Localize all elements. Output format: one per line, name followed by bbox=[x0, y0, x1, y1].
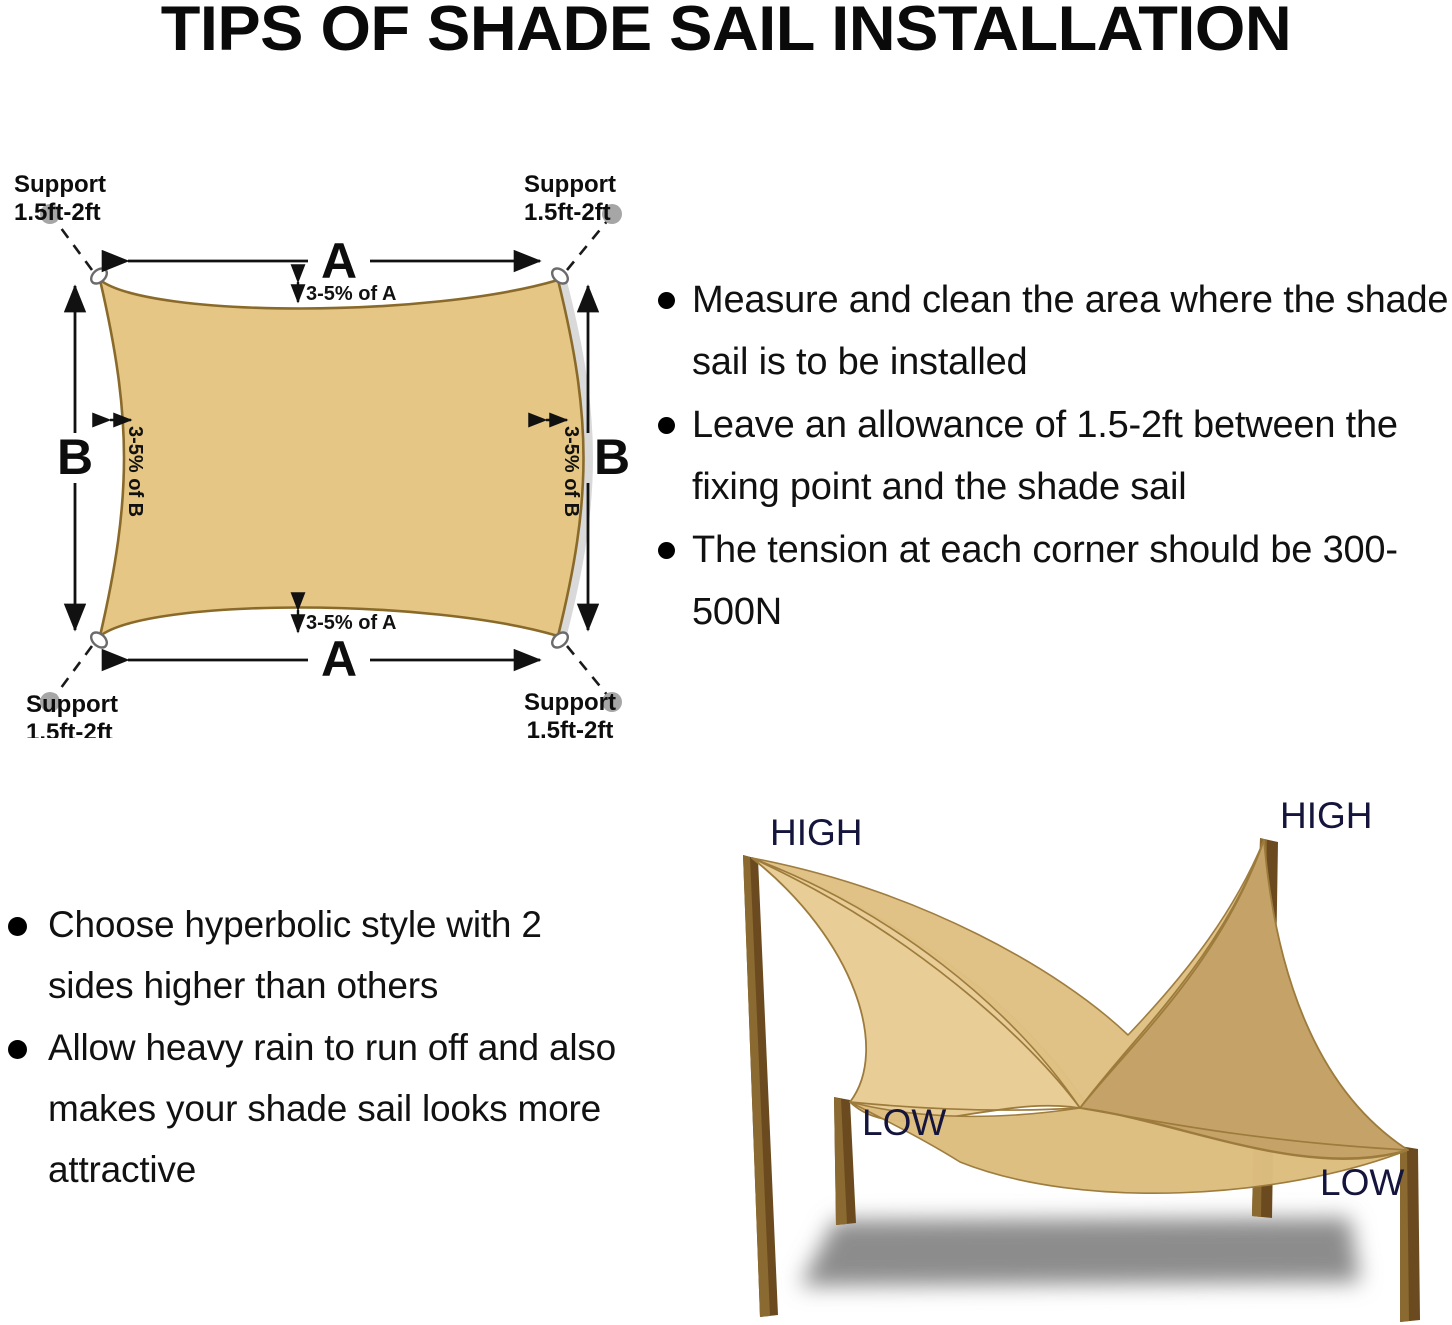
post-low-left bbox=[834, 1097, 856, 1225]
hyperbolic-shade-sail-illustration: HIGH HIGH LOW LOW bbox=[660, 790, 1452, 1325]
support-label-bottom-right-line1: Support bbox=[524, 689, 616, 716]
list-item: Measure and clean the area where the sha… bbox=[650, 270, 1452, 393]
label-low-right: LOW bbox=[1320, 1162, 1404, 1203]
curve-label-right: 3-5% of B bbox=[560, 426, 582, 517]
curve-label-top: 3-5% of A bbox=[306, 283, 396, 305]
list-item: Allow heavy rain to run off and also mak… bbox=[0, 1018, 625, 1200]
curve-label-left: 3-5% of B bbox=[124, 426, 146, 517]
shade-sail-shape bbox=[100, 280, 584, 636]
support-label-top-right-line1: Support bbox=[524, 171, 616, 198]
curve-label-bottom: 3-5% of A bbox=[306, 612, 396, 634]
support-label-top-left-line1: Support bbox=[14, 171, 106, 198]
list-item: The tension at each corner should be 300… bbox=[650, 520, 1452, 643]
dimension-label-b-right: B bbox=[594, 429, 630, 485]
infographic-page: TIPS OF SHADE SAIL INSTALLATION bbox=[0, 0, 1452, 1325]
dimension-label-a-bottom: A bbox=[321, 631, 357, 687]
label-low-left: LOW bbox=[862, 1102, 946, 1143]
label-high-right: HIGH bbox=[1280, 795, 1373, 836]
dimension-label-a-top: A bbox=[321, 233, 357, 289]
post-high-left bbox=[743, 855, 778, 1317]
support-label-bottom-right-line2: 1.5ft-2ft bbox=[527, 717, 614, 738]
ground-shadow bbox=[800, 1218, 1360, 1286]
label-high-left: HIGH bbox=[770, 812, 863, 853]
dimension-label-b-left: B bbox=[57, 429, 93, 485]
support-label-top-right-line2: 1.5ft-2ft bbox=[524, 199, 611, 226]
page-title: TIPS OF SHADE SAIL INSTALLATION bbox=[0, 0, 1452, 62]
list-item: Choose hyperbolic style with 2 sides hig… bbox=[0, 895, 625, 1016]
list-item: Leave an allowance of 1.5-2ft between th… bbox=[650, 395, 1452, 518]
support-label-bottom-left-line2: 1.5ft-2ft bbox=[26, 719, 113, 738]
installation-tips-list: Measure and clean the area where the sha… bbox=[650, 270, 1452, 645]
hyperbolic-style-tips-list: Choose hyperbolic style with 2 sides hig… bbox=[0, 895, 625, 1202]
support-label-top-left-line2: 1.5ft-2ft bbox=[14, 199, 101, 226]
dimension-diagram: A 3-5% of A A 3-5% of A B 3-5% of B bbox=[0, 168, 660, 738]
support-label-bottom-left-line1: Support bbox=[26, 691, 118, 718]
